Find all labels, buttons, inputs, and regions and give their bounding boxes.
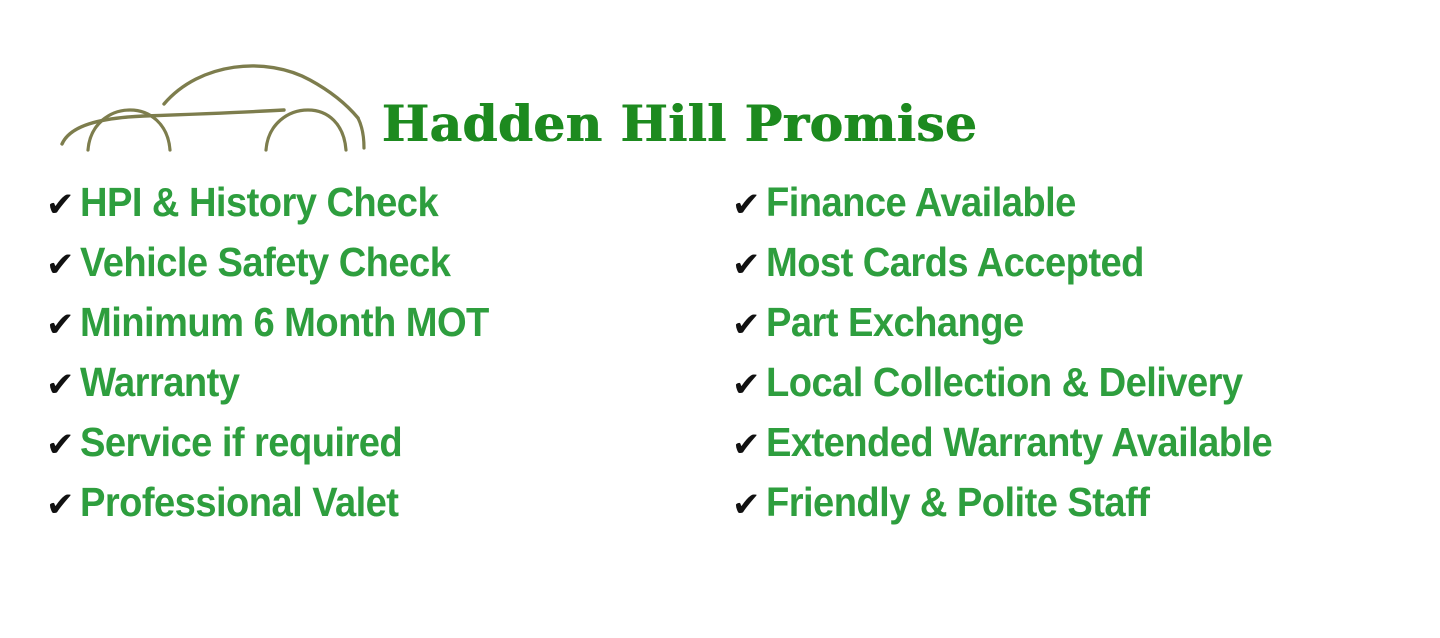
list-item: ✔ HPI & History Check [46,178,520,238]
check-icon: ✔ [732,243,766,287]
hadden-hill-promise-banner: Hadden Hill Promise ✔ HPI & History Chec… [0,0,1440,638]
check-icon: ✔ [732,483,766,527]
check-icon: ✔ [46,183,80,227]
list-item-label: Local Collection & Delivery [766,358,1243,406]
check-icon: ✔ [46,363,80,407]
list-item-label: Service if required [80,418,402,466]
list-item-label: Professional Valet [80,478,398,526]
list-item: ✔ Warranty [46,358,520,418]
check-icon: ✔ [732,183,766,227]
list-item: ✔ Friendly & Polite Staff [732,478,1310,538]
check-icon: ✔ [46,243,80,287]
list-item: ✔ Minimum 6 Month MOT [46,298,520,358]
list-item-label: Most Cards Accepted [766,238,1144,286]
list-item: ✔ Part Exchange [732,298,1310,358]
car-outline-icon [52,52,372,152]
list-item-label: Warranty [80,358,239,406]
page-title: Hadden Hill Promise [382,96,977,152]
check-icon: ✔ [46,483,80,527]
list-item-label: HPI & History Check [80,178,438,226]
list-item: ✔ Local Collection & Delivery [732,358,1310,418]
list-item: ✔ Professional Valet [46,478,520,538]
promise-column-left: ✔ HPI & History Check ✔ Vehicle Safety C… [46,178,520,538]
check-icon: ✔ [46,423,80,467]
list-item: ✔ Extended Warranty Available [732,418,1310,478]
list-item: ✔ Most Cards Accepted [732,238,1310,298]
list-item-label: Vehicle Safety Check [80,238,450,286]
promise-list: ✔ HPI & History Check ✔ Vehicle Safety C… [0,178,1440,548]
list-item-label: Extended Warranty Available [766,418,1272,466]
list-item-label: Part Exchange [766,298,1024,346]
list-item-label: Friendly & Polite Staff [766,478,1149,526]
list-item: ✔ Vehicle Safety Check [46,238,520,298]
check-icon: ✔ [46,303,80,347]
list-item: ✔ Service if required [46,418,520,478]
check-icon: ✔ [732,363,766,407]
list-item-label: Finance Available [766,178,1076,226]
banner-header: Hadden Hill Promise [0,0,1440,175]
list-item: ✔ Finance Available [732,178,1310,238]
check-icon: ✔ [732,303,766,347]
promise-column-right: ✔ Finance Available ✔ Most Cards Accepte… [732,178,1310,538]
list-item-label: Minimum 6 Month MOT [80,298,489,346]
check-icon: ✔ [732,423,766,467]
